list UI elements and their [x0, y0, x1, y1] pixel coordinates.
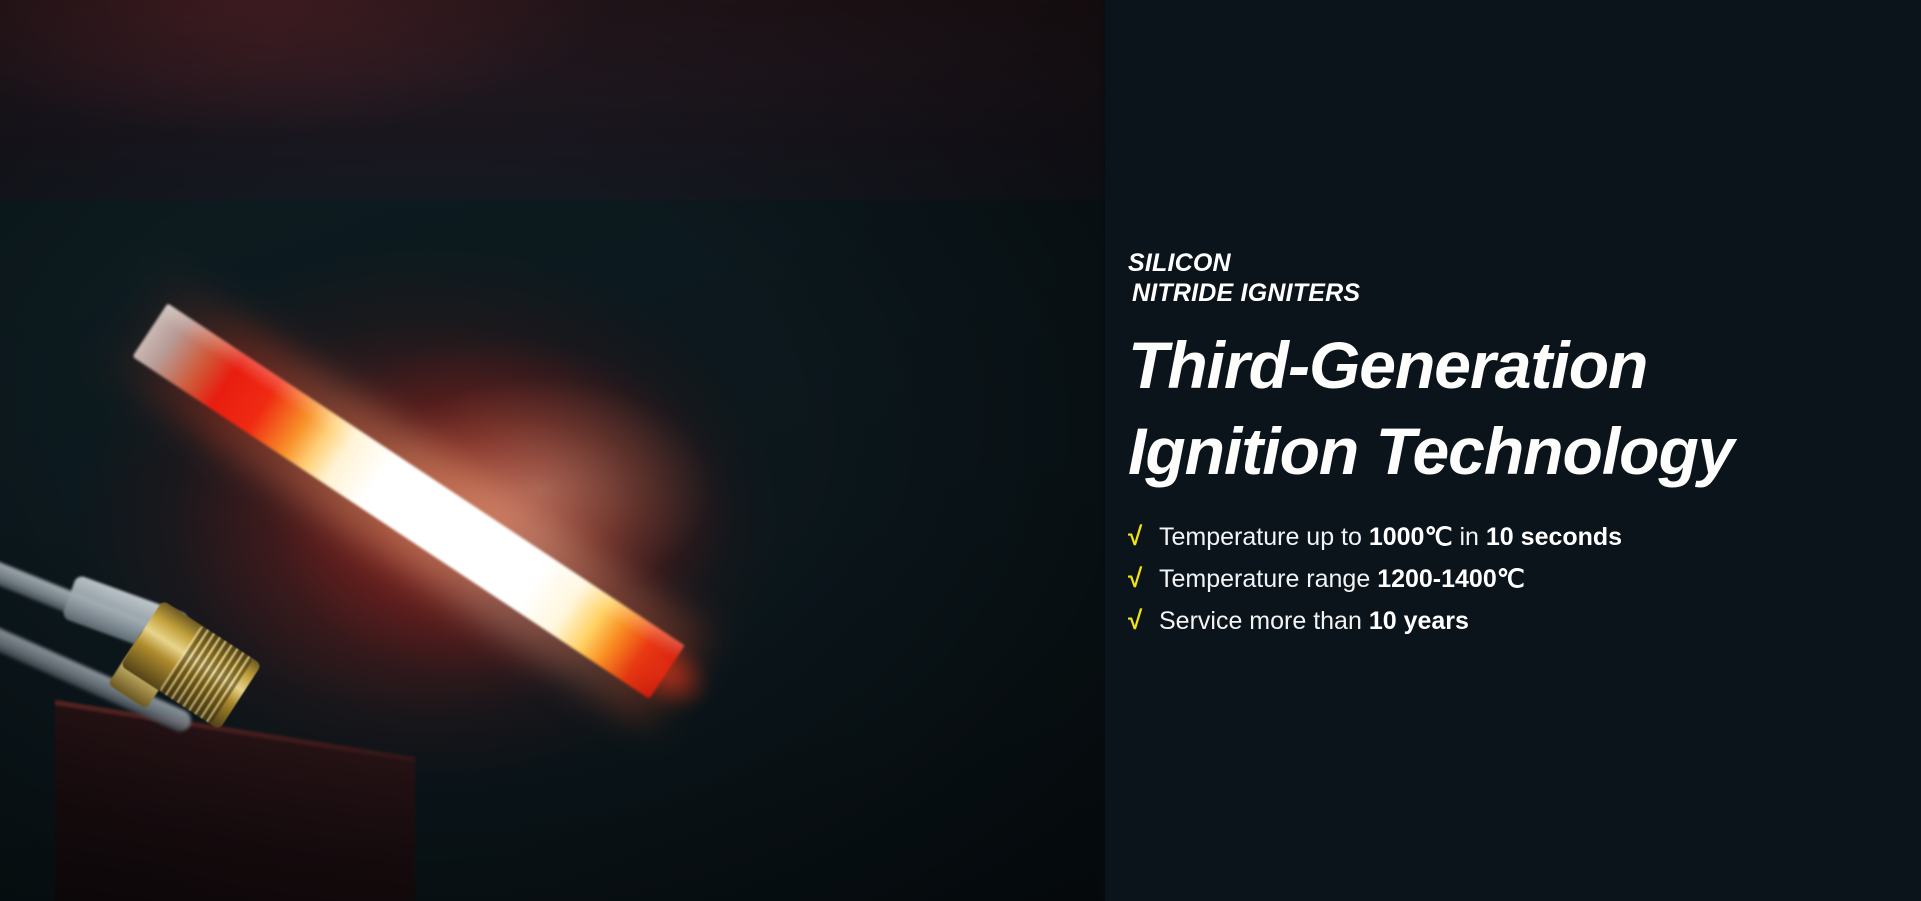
feature-list: √ Temperature up to 1000℃ in 10 seconds …	[1128, 520, 1918, 638]
headline-line-1: Third-Generation	[1128, 322, 1918, 408]
list-item: √ Temperature up to 1000℃ in 10 seconds	[1128, 520, 1918, 554]
photo-vignette	[0, 0, 1215, 901]
check-mark-icon: √	[1128, 562, 1146, 595]
feature-text: Temperature up to 1000℃ in 10 seconds	[1159, 521, 1622, 554]
feature-text: Temperature range 1200-1400℃	[1159, 563, 1525, 596]
product-hero-banner: SILICON NITRIDE IGNITERS Third-Generatio…	[0, 0, 1921, 901]
check-mark-icon: √	[1128, 604, 1146, 637]
eyebrow-line-2: NITRIDE IGNITERS	[1132, 278, 1918, 308]
content-panel: SILICON NITRIDE IGNITERS Third-Generatio…	[1105, 0, 1921, 901]
eyebrow-line-1: SILICON	[1128, 248, 1918, 278]
feature-text: Service more than 10 years	[1159, 605, 1469, 638]
content-stack: SILICON NITRIDE IGNITERS Third-Generatio…	[1128, 248, 1918, 646]
list-item: √ Service more than 10 years	[1128, 604, 1918, 638]
eyebrow-kicker: SILICON NITRIDE IGNITERS	[1128, 248, 1918, 308]
page-title: Third-Generation Ignition Technology	[1128, 322, 1918, 494]
headline-line-2: Ignition Technology	[1128, 408, 1918, 494]
igniter-photo	[0, 0, 1215, 901]
check-mark-icon: √	[1128, 520, 1146, 553]
list-item: √ Temperature range 1200-1400℃	[1128, 562, 1918, 596]
